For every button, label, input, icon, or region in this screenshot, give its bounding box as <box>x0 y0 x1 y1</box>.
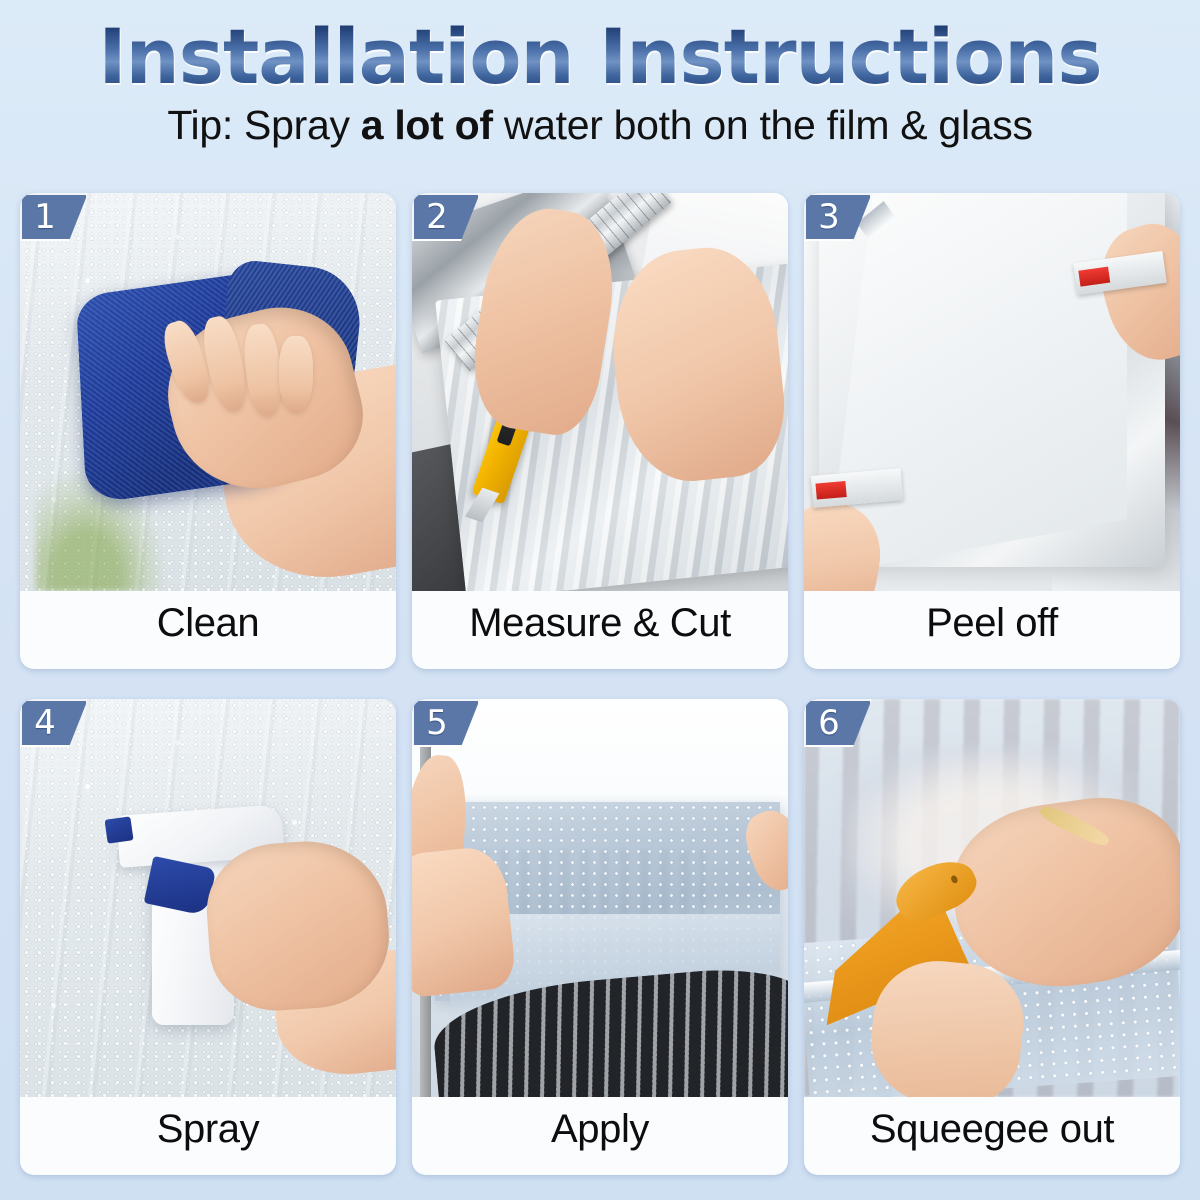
step-caption-3: Peel off <box>804 591 1180 669</box>
tip-suffix: water both on the film & glass <box>493 102 1033 148</box>
step-photo-6: 6 <box>804 699 1180 1097</box>
step-number-2: 2 <box>412 193 462 241</box>
step-card-2[interactable]: 2 Measure & Cut <box>412 193 788 669</box>
step-number-badge-1: 1 <box>20 193 88 241</box>
steps-grid: 1 Clean 2 Measure & Cut <box>20 193 1180 1175</box>
red-pull-tab <box>815 480 847 499</box>
tip-emphasis: a lot of <box>361 102 493 148</box>
finger-pinky <box>279 336 313 412</box>
step-photo-5: 5 <box>412 699 788 1097</box>
step-caption-6: Squeegee out <box>804 1097 1180 1175</box>
scene-peel-off <box>804 193 1180 591</box>
scene-spray <box>20 699 396 1097</box>
step-card-6[interactable]: 6 Squeegee out <box>804 699 1180 1175</box>
step-caption-4: Spray <box>20 1097 396 1175</box>
step-photo-1: 1 <box>20 193 396 591</box>
scene-measure-cut <box>412 193 788 591</box>
step-number-5: 5 <box>412 699 462 747</box>
tip-subtitle: Tip: Spray a lot of water both on the fi… <box>0 102 1200 149</box>
step-number-1: 1 <box>20 193 70 241</box>
scene-clean <box>20 193 396 591</box>
step-card-1[interactable]: 1 Clean <box>20 193 396 669</box>
step-number-badge-5: 5 <box>412 699 480 747</box>
spray-nozzle <box>105 817 134 844</box>
step-number-badge-3: 3 <box>804 193 872 241</box>
step-card-3[interactable]: 3 Peel off <box>804 193 1180 669</box>
step-card-5[interactable]: 5 Apply <box>412 699 788 1175</box>
red-pull-tab <box>1078 266 1111 287</box>
tip-prefix: Tip: Spray <box>167 102 360 148</box>
step-number-3: 3 <box>804 193 854 241</box>
step-photo-4: 4 <box>20 699 396 1097</box>
step-number-badge-4: 4 <box>20 699 88 747</box>
step-number-badge-6: 6 <box>804 699 872 747</box>
step-number-badge-2: 2 <box>412 193 480 241</box>
scene-apply <box>412 699 788 1097</box>
step-card-4[interactable]: 4 Spray <box>20 699 396 1175</box>
step-caption-2: Measure & Cut <box>412 591 788 669</box>
step-caption-5: Apply <box>412 1097 788 1175</box>
scene-squeegee <box>804 699 1180 1097</box>
step-number-6: 6 <box>804 699 854 747</box>
step-photo-2: 2 <box>412 193 788 591</box>
header: Installation Instructions Tip: Spray a l… <box>0 0 1200 149</box>
page-title: Installation Instructions <box>0 18 1200 96</box>
step-number-4: 4 <box>20 699 70 747</box>
step-photo-3: 3 <box>804 193 1180 591</box>
step-caption-1: Clean <box>20 591 396 669</box>
